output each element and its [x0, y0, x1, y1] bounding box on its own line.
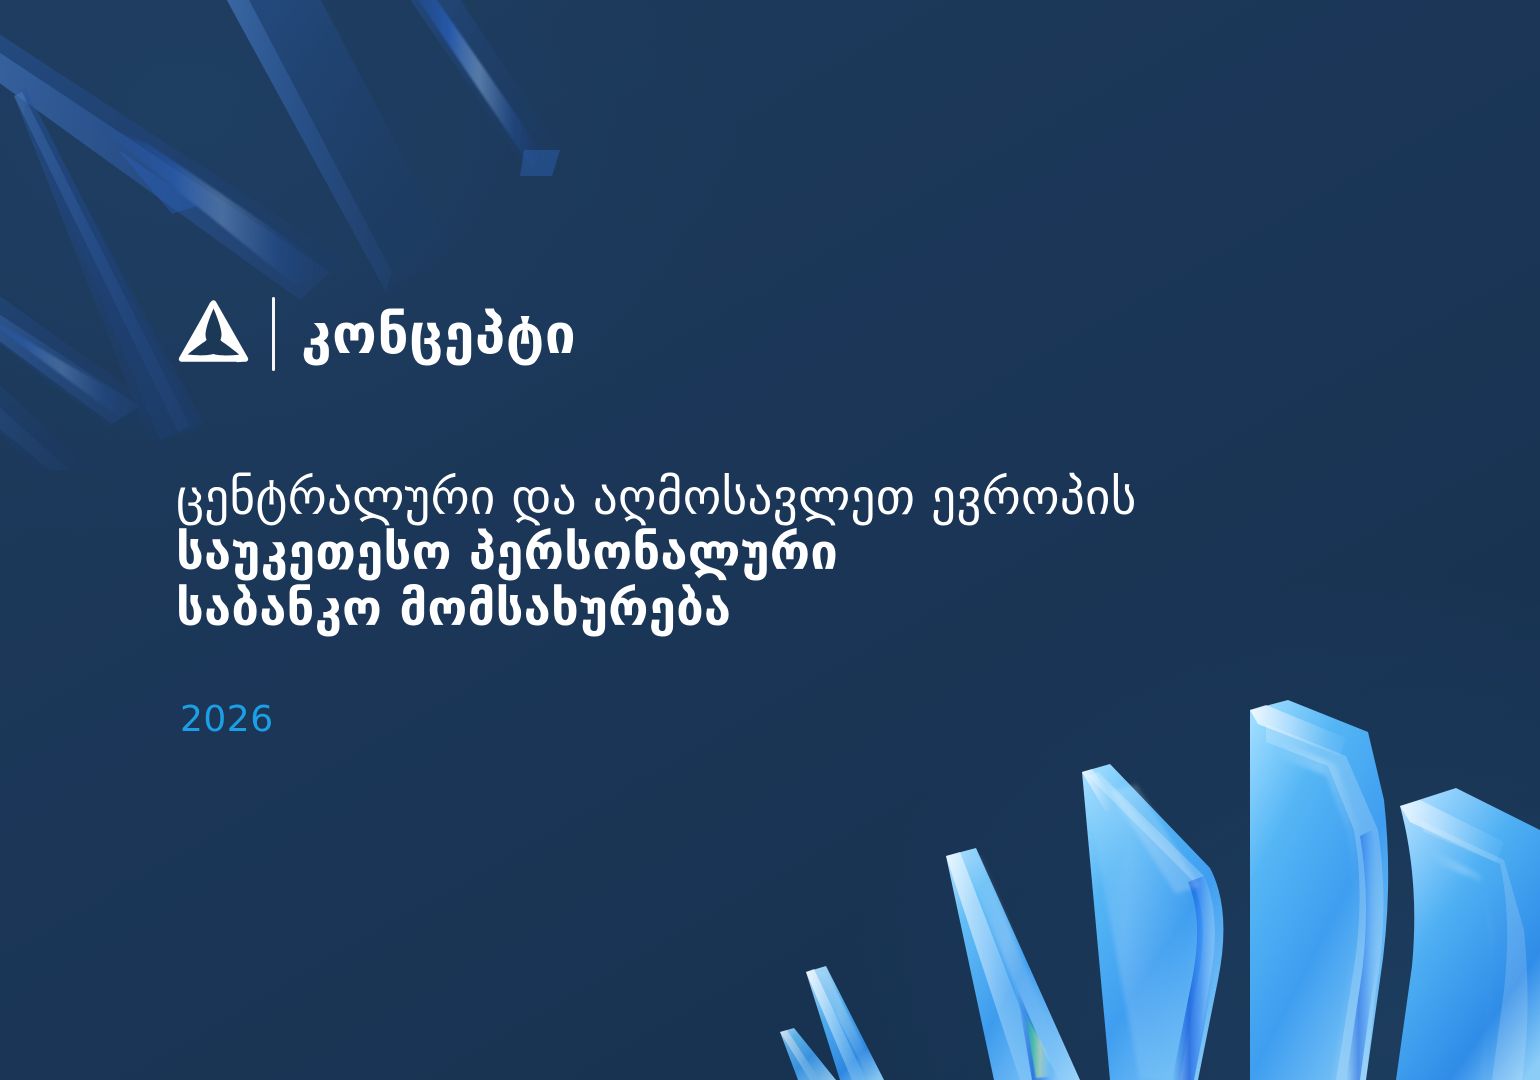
glass-panels-bottom-right: [780, 680, 1540, 1080]
title-slide: კონცეპტი ცენტრალური და აღმოსავლეთ ევროპი…: [0, 0, 1540, 1080]
title-line-1: ცენტრალური და აღმოსავლეთ ევროპის: [176, 470, 1356, 525]
triangle-trifold-logo-icon: [176, 298, 250, 370]
title-line-2: საუკეთესო პერსონალური: [176, 525, 1356, 580]
year-label: 2026: [180, 702, 274, 738]
brand-wordmark: კონცეპტი: [297, 307, 576, 362]
title-line-3: საბანკო მომსახურება: [176, 581, 1356, 636]
page-title: ცენტრალური და აღმოსავლეთ ევროპის საუკეთე…: [176, 470, 1356, 636]
brand-lockup: კონცეპტი: [176, 286, 576, 382]
glass-panels-top-left: [0, 0, 720, 470]
brand-divider: [272, 297, 275, 371]
